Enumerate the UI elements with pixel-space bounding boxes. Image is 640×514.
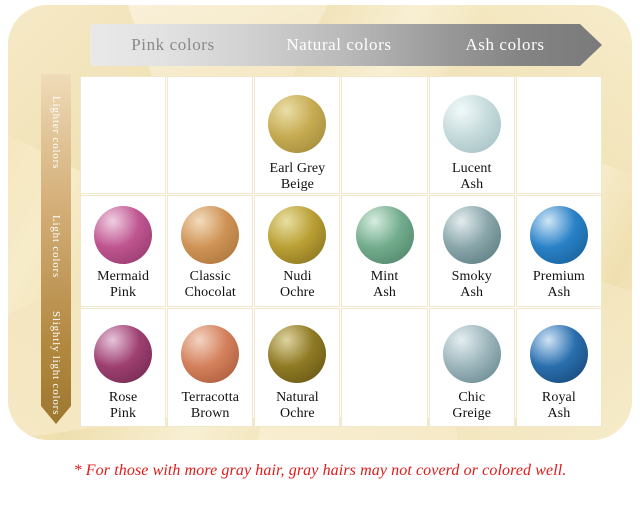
swatch-cell-earl-grey-beige[interactable]: Earl Grey Beige [255, 77, 339, 193]
hair-color-swatch-grid: Earl Grey BeigeLucent AshMermaid PinkCla… [80, 76, 602, 419]
color-orb-lucent-ash [443, 95, 501, 153]
color-orb-chic-greige [443, 325, 501, 383]
swatch-label-mermaid-pink: Mermaid Pink [97, 269, 149, 300]
swatch-cell-empty [81, 77, 165, 193]
swatch-label-royal-ash: Royal Ash [542, 390, 576, 421]
color-orb-earl-grey-beige [268, 95, 326, 153]
banner-category-list: Pink colors Natural colors Ash colors [90, 24, 602, 66]
tone-level-ribbon: Lighter colors Light colors Slightly lig… [41, 74, 71, 424]
category-label-ash: Ash colors [422, 35, 602, 55]
color-orb-nudi-ochre [268, 206, 326, 264]
swatch-cell-mermaid-pink[interactable]: Mermaid Pink [81, 196, 165, 306]
swatch-cell-royal-ash[interactable]: Royal Ash [517, 309, 601, 426]
color-orb-mint-ash [356, 206, 414, 264]
tone-segment-light: Light colors [41, 192, 71, 301]
swatch-label-rose-pink: Rose Pink [109, 390, 137, 421]
color-orb-mermaid-pink [94, 206, 152, 264]
disclaimer-note: * For those with more gray hair, gray ha… [0, 462, 640, 480]
swatch-cell-empty [342, 309, 426, 426]
category-label-natural: Natural colors [256, 35, 422, 55]
color-orb-natural-ochre [268, 325, 326, 383]
color-orb-classic-chocolat [181, 206, 239, 264]
tone-segment-lighter: Lighter colors [41, 74, 71, 192]
color-orb-smoky-ash [443, 206, 501, 264]
swatch-cell-mint-ash[interactable]: Mint Ash [342, 196, 426, 306]
swatch-label-terracotta-brown: Terracotta Brown [181, 390, 239, 421]
swatch-cell-lucent-ash[interactable]: Lucent Ash [430, 77, 514, 193]
swatch-cell-chic-greige[interactable]: Chic Greige [430, 309, 514, 426]
swatch-label-mint-ash: Mint Ash [371, 269, 399, 300]
tone-label-lighter: Lighter colors [50, 96, 62, 169]
swatch-cell-rose-pink[interactable]: Rose Pink [81, 309, 165, 426]
swatch-label-classic-chocolat: Classic Chocolat [185, 269, 236, 300]
swatch-cell-empty [517, 77, 601, 193]
tone-label-slightly-light: Slightly light colors [50, 311, 62, 415]
swatch-cell-premium-ash[interactable]: Premium Ash [517, 196, 601, 306]
tone-label-light: Light colors [50, 215, 62, 278]
swatch-cell-empty [342, 77, 426, 193]
category-label-pink: Pink colors [90, 35, 256, 55]
color-orb-rose-pink [94, 325, 152, 383]
swatch-label-nudi-ochre: Nudi Ochre [280, 269, 315, 300]
color-orb-terracotta-brown [181, 325, 239, 383]
swatch-label-smoky-ash: Smoky Ash [452, 269, 492, 300]
swatch-label-earl-grey-beige: Earl Grey Beige [270, 161, 326, 192]
swatch-label-lucent-ash: Lucent Ash [452, 161, 491, 192]
color-orb-royal-ash [530, 325, 588, 383]
tone-segment-slightly-light: Slightly light colors [41, 302, 71, 425]
swatch-cell-terracotta-brown[interactable]: Terracotta Brown [168, 309, 252, 426]
color-orb-premium-ash [530, 206, 588, 264]
swatch-label-premium-ash: Premium Ash [533, 269, 585, 300]
swatch-cell-classic-chocolat[interactable]: Classic Chocolat [168, 196, 252, 306]
swatch-cell-natural-ochre[interactable]: Natural Ochre [255, 309, 339, 426]
swatch-label-natural-ochre: Natural Ochre [276, 390, 319, 421]
swatch-label-chic-greige: Chic Greige [452, 390, 491, 421]
swatch-cell-empty [168, 77, 252, 193]
swatch-cell-smoky-ash[interactable]: Smoky Ash [430, 196, 514, 306]
swatch-cell-nudi-ochre[interactable]: Nudi Ochre [255, 196, 339, 306]
color-category-banner: Pink colors Natural colors Ash colors [90, 24, 602, 66]
